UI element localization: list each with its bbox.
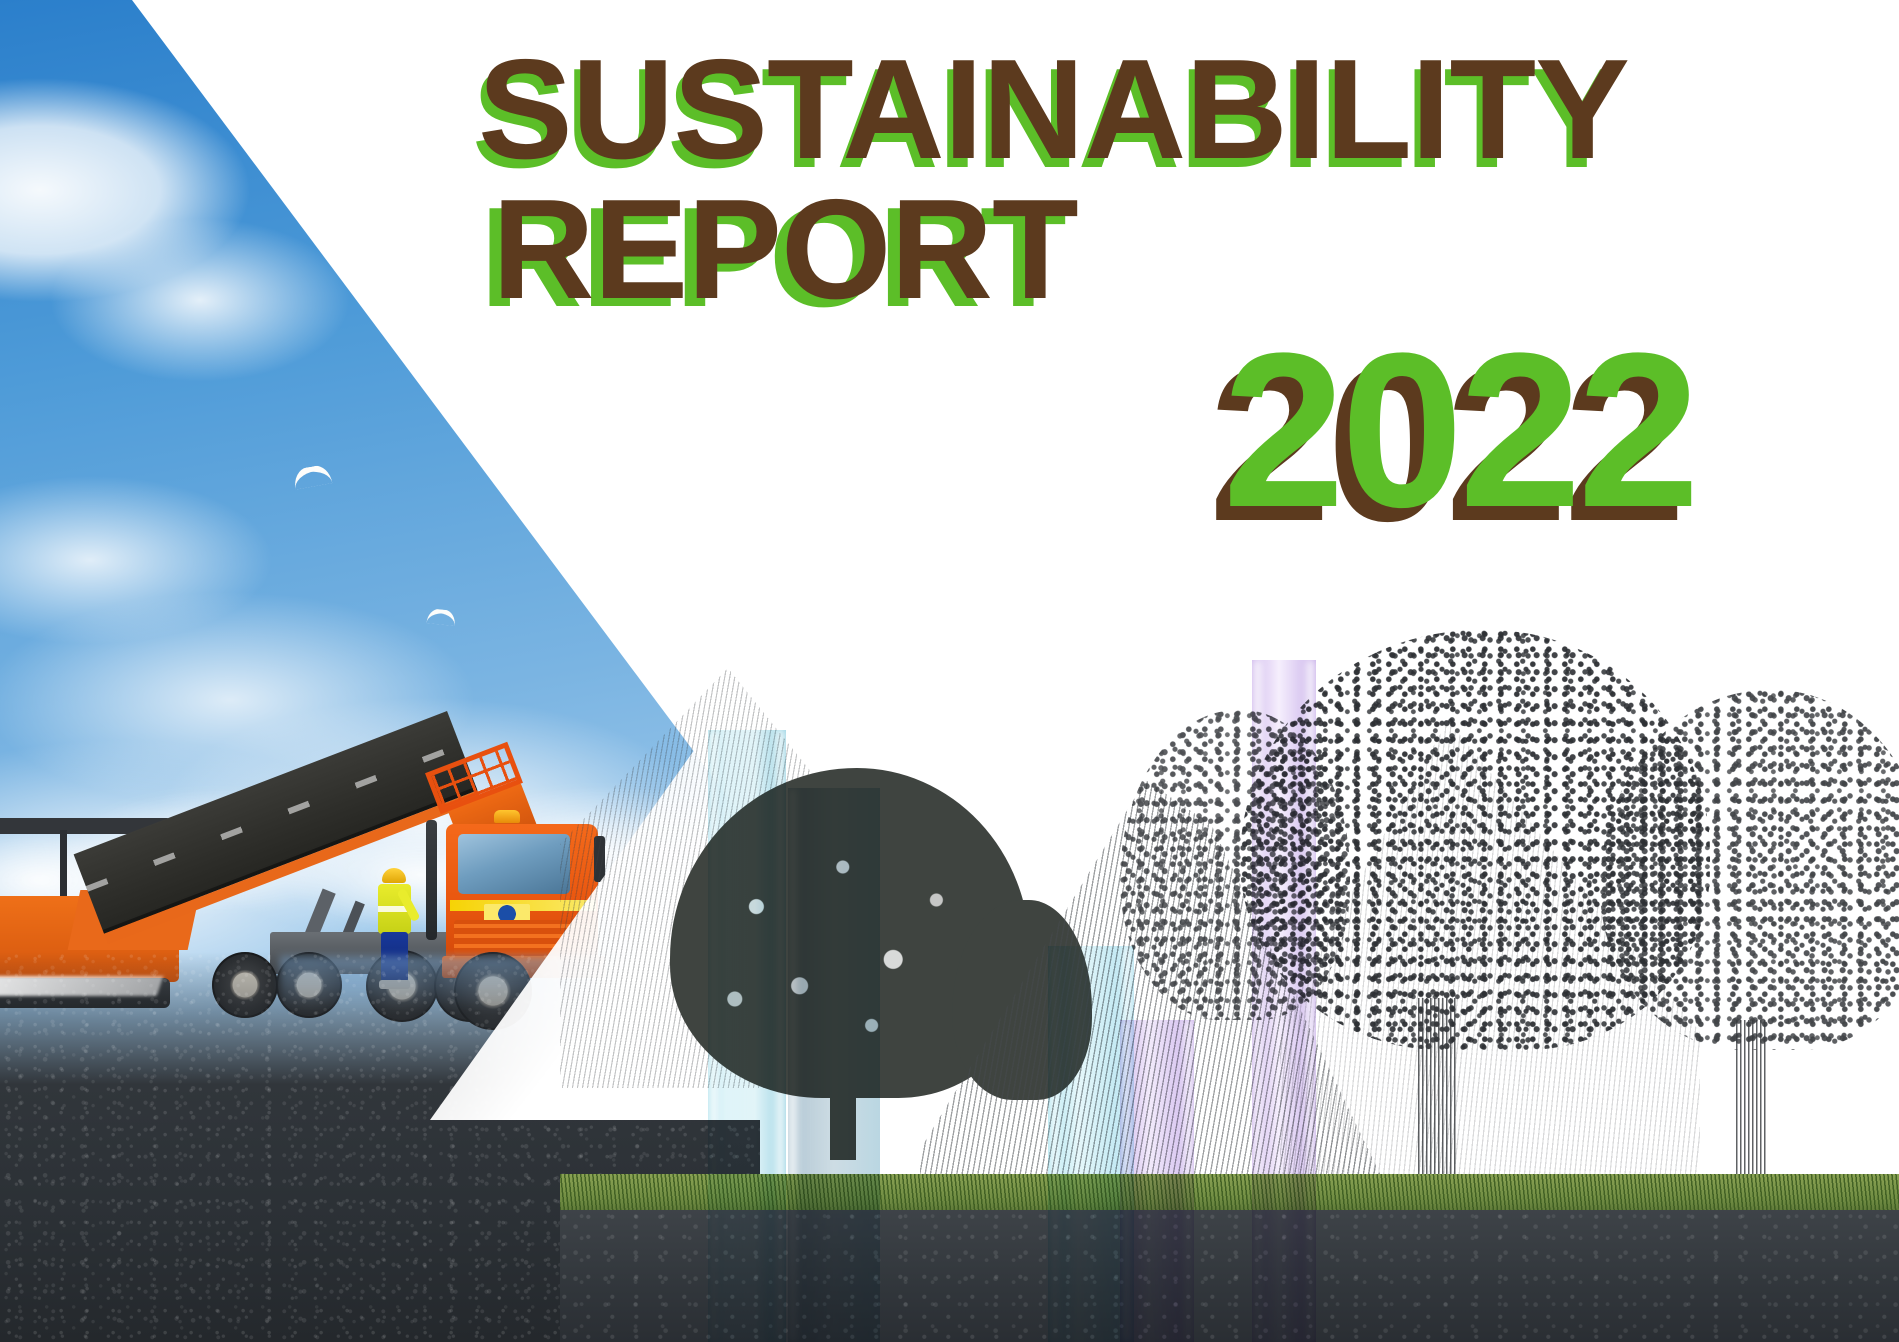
tree-trunk [830, 1030, 856, 1160]
asphalt-paving-strip [560, 1210, 1899, 1342]
report-cover-page: SUSTAINABILITY SUSTAINABILITY REPORT REP… [0, 0, 1899, 1342]
tree-icon [952, 900, 1092, 1100]
title-line-report-brown-layer: REPORT [492, 184, 1078, 316]
truck-windshield [458, 834, 570, 894]
exhaust-stack [426, 820, 437, 940]
tree-trunk [1736, 1020, 1766, 1180]
warning-beacon-icon [494, 810, 520, 823]
title-line-sustainability-brown-layer: SUSTAINABILITY [478, 44, 1629, 176]
cover-year: 2022 2022 [478, 330, 1878, 540]
engraved-nature-scene [560, 600, 1899, 1342]
paver-post [60, 830, 67, 902]
cover-year-green-layer: 2022 [1223, 330, 1696, 530]
road-line-marking [0, 976, 163, 996]
cover-title-block: SUSTAINABILITY SUSTAINABILITY REPORT REP… [478, 44, 1878, 540]
grass-verge [560, 1174, 1899, 1214]
title-line-sustainability: SUSTAINABILITY SUSTAINABILITY [478, 44, 1878, 178]
title-line-report: REPORT REPORT [478, 184, 1878, 314]
hard-hat-icon [382, 868, 406, 883]
tree-trunk [1418, 998, 1458, 1178]
